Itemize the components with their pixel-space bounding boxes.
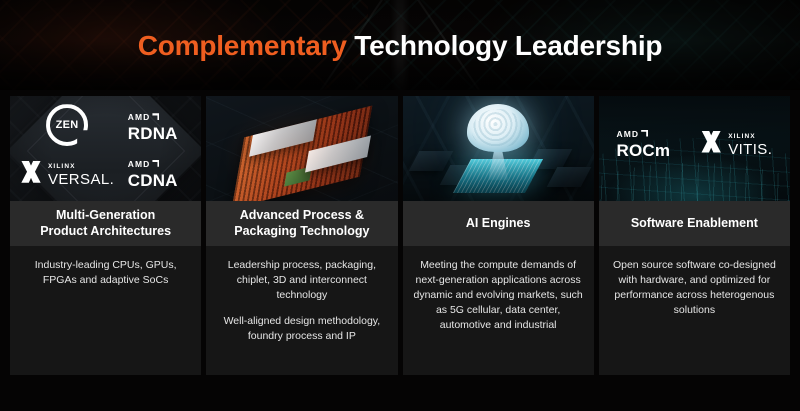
amd-brand-text: CDNA xyxy=(128,172,178,189)
card-visual-ai-brain xyxy=(403,96,594,201)
xilinx-versal-logo: XILINX VERSAL. xyxy=(20,156,114,188)
amd-vendor-text: AMD xyxy=(616,130,639,139)
amd-rdna-logo: AMD RDNA xyxy=(128,108,178,142)
amd-wordmark: AMD xyxy=(128,160,160,169)
xilinx-brand-text: VERSAL. xyxy=(48,171,114,188)
amd-cdna-logo: AMD CDNA xyxy=(128,155,178,189)
card-title-multi-generation: Multi-GenerationProduct Architectures xyxy=(10,201,201,246)
card-title-text: Multi-GenerationProduct Architectures xyxy=(40,208,171,239)
card-paragraph: Industry-leading CPUs, GPUs, FPGAs and a… xyxy=(20,258,191,288)
amd-wordmark: AMD xyxy=(128,113,160,122)
page-title-accent: Complementary xyxy=(138,30,347,61)
card-title-text: AI Engines xyxy=(466,216,531,231)
card-title-software-enablement: Software Enablement xyxy=(599,201,790,246)
amd-vendor-text: AMD xyxy=(128,160,151,169)
page-title: Complementary Technology Leadership xyxy=(0,30,800,62)
card-title-line1: Advanced Process & xyxy=(240,208,364,222)
card-body-advanced-process: Leadership process, packaging, chiplet, … xyxy=(206,246,397,375)
card-body-software-enablement: Open source software co-designed with ha… xyxy=(599,246,790,375)
brand-logo-grid: ZEN AMD RDNA XILINX VERSAL. xyxy=(10,96,201,201)
zen-logo-text: ZEN xyxy=(46,104,88,146)
card-title-line2: Product Architectures xyxy=(40,224,171,238)
xilinx-vendor-text: XILINX xyxy=(48,163,76,170)
card-title-text: Software Enablement xyxy=(631,216,758,231)
xilinx-x-icon xyxy=(700,131,722,153)
card-visual-chiplet-package xyxy=(206,96,397,201)
card-title-line2: Packaging Technology xyxy=(234,224,369,238)
amd-brand-text: RDNA xyxy=(128,125,178,142)
page-title-plain: Technology Leadership xyxy=(347,30,663,61)
card-software-enablement[interactable]: AMD ROCm XILINX VITIS. Soft xyxy=(599,96,790,375)
xilinx-wordmark: XILINX VITIS. xyxy=(728,126,772,158)
card-body-multi-generation: Industry-leading CPUs, GPUs, FPGAs and a… xyxy=(10,246,201,375)
xilinx-brand-text: VITIS. xyxy=(728,141,772,158)
card-advanced-process-packaging-technology[interactable]: Advanced Process &Packaging Technology L… xyxy=(206,96,397,375)
card-title-advanced-process: Advanced Process &Packaging Technology xyxy=(206,201,397,246)
card-paragraph: Well-aligned design methodology, foundry… xyxy=(216,314,387,344)
amd-vendor-text: AMD xyxy=(128,113,151,122)
amd-wordmark: AMD xyxy=(616,130,648,139)
card-visual-teal-wave: AMD ROCm XILINX VITIS. xyxy=(599,96,790,201)
card-ai-engines[interactable]: AI Engines Meeting the compute demands o… xyxy=(403,96,594,375)
xilinx-x-icon xyxy=(20,161,42,183)
card-visual-chip-die: ZEN AMD RDNA XILINX VERSAL. xyxy=(10,96,201,201)
card-title-line1: Multi-Generation xyxy=(56,208,155,222)
xilinx-vitis-logo: XILINX VITIS. xyxy=(700,126,772,158)
amd-arrow-icon xyxy=(152,113,159,120)
zen-logo: ZEN xyxy=(46,104,88,146)
card-multi-generation-product-architectures[interactable]: ZEN AMD RDNA XILINX VERSAL. xyxy=(10,96,201,375)
card-title-text: Advanced Process &Packaging Technology xyxy=(234,208,369,239)
card-row: ZEN AMD RDNA XILINX VERSAL. xyxy=(10,96,790,375)
card-paragraph: Leadership process, packaging, chiplet, … xyxy=(216,258,387,303)
xilinx-vendor-text: XILINX xyxy=(728,133,756,140)
card-paragraph: Meeting the compute demands of next-gene… xyxy=(413,258,584,333)
package-glow xyxy=(206,96,397,201)
software-logo-row: AMD ROCm XILINX VITIS. xyxy=(599,96,790,201)
amd-rocm-logo: AMD ROCm xyxy=(616,125,670,159)
slide-root: Complementary Technology Leadership ZEN … xyxy=(0,0,800,411)
ai-bottom-fade xyxy=(403,96,594,201)
xilinx-wordmark: XILINX VERSAL. xyxy=(48,156,114,188)
card-paragraph: Open source software co-designed with ha… xyxy=(609,258,780,318)
amd-arrow-icon xyxy=(641,130,648,137)
amd-arrow-icon xyxy=(152,160,159,167)
card-title-ai-engines: AI Engines xyxy=(403,201,594,246)
card-body-ai-engines: Meeting the compute demands of next-gene… xyxy=(403,246,594,375)
amd-brand-text: ROCm xyxy=(616,142,670,159)
